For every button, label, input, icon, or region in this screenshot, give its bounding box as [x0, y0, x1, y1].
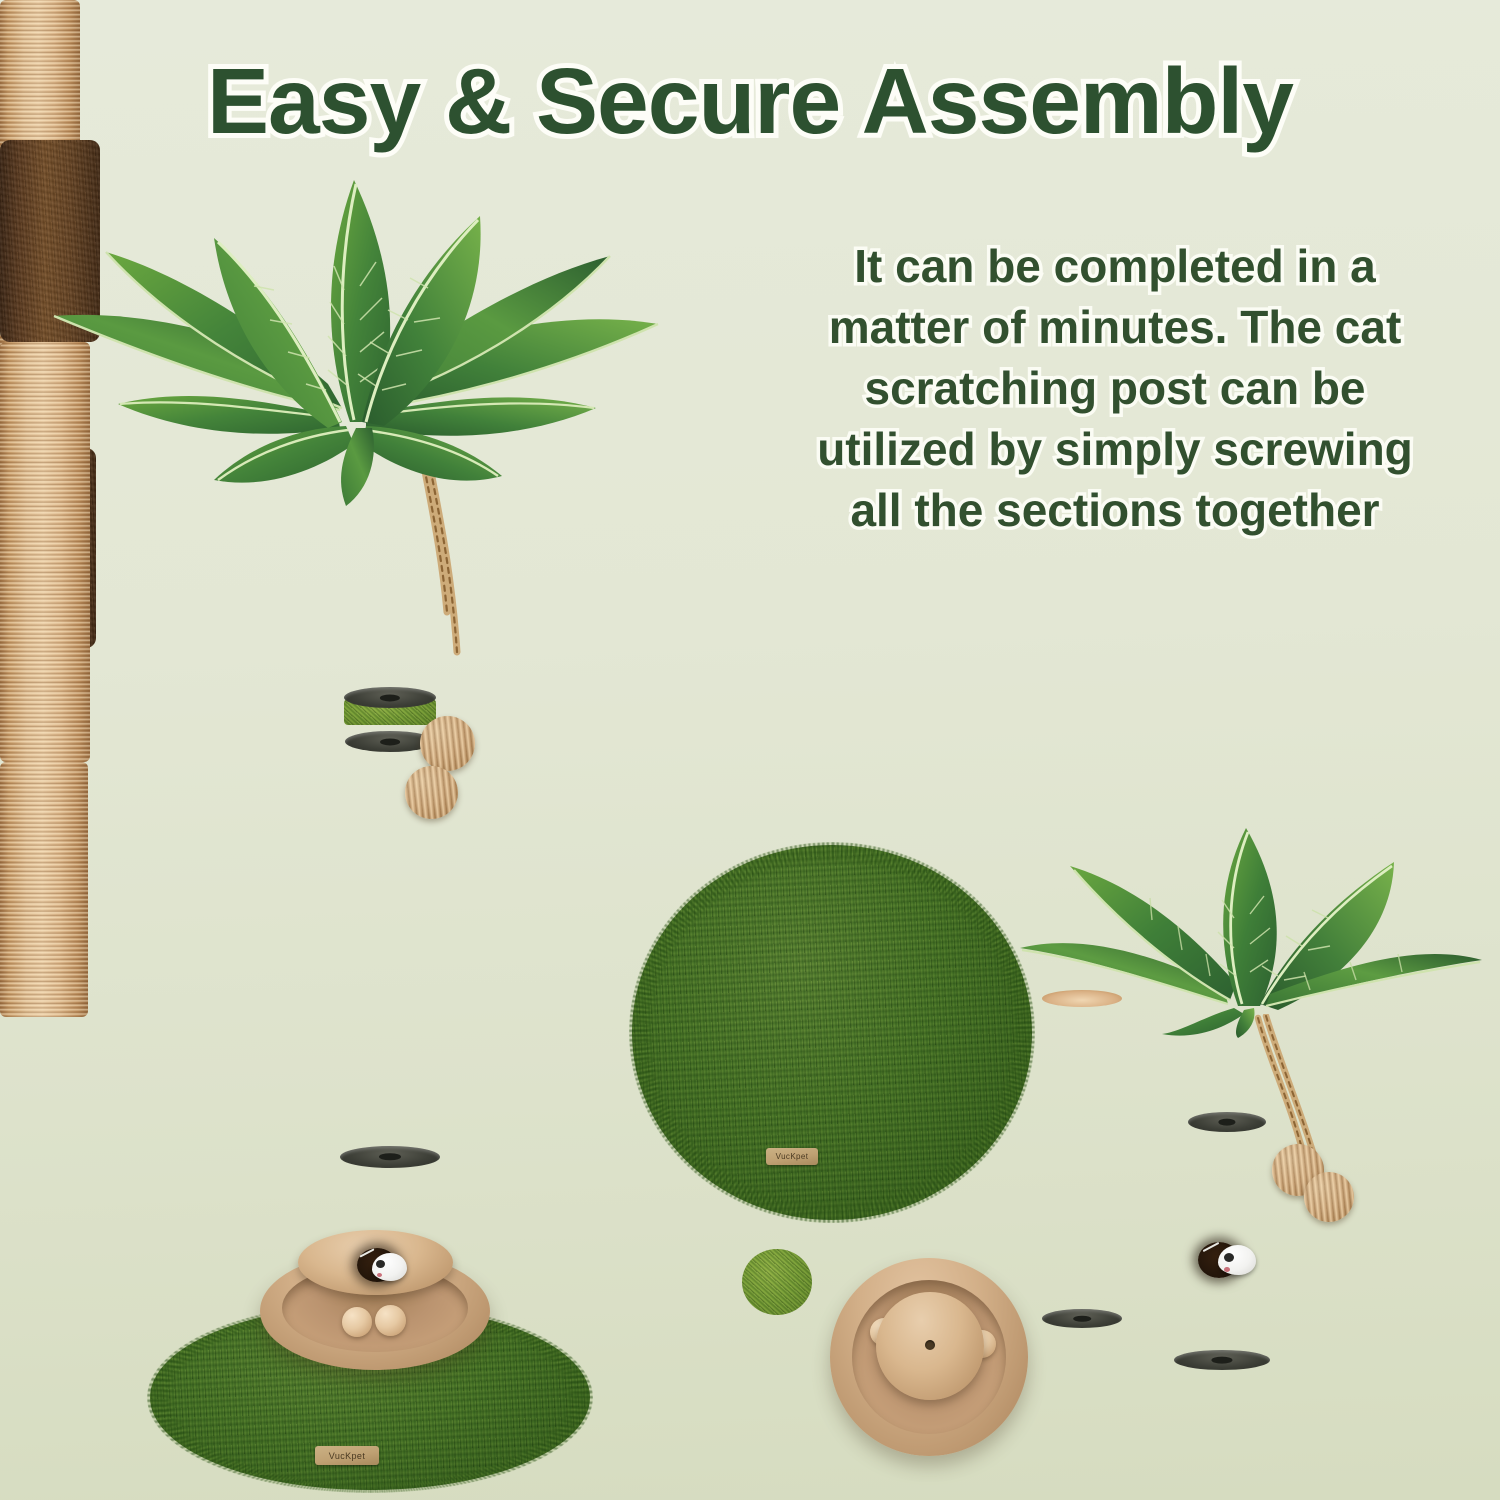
part-leaf-front-left	[1162, 1008, 1244, 1036]
description-line-5: all the sections together	[745, 480, 1485, 541]
sisal-toy-ball-lower-part	[1304, 1172, 1354, 1222]
brand-tag-part: VucKpet	[766, 1148, 818, 1165]
sisal-toy-ball-upper	[420, 716, 475, 771]
description-line-3: scratching post can be	[745, 358, 1485, 419]
mouse-nose	[377, 1273, 382, 1277]
description-line-1: It can be completed in a	[745, 236, 1485, 297]
product-infographic: Easy & Secure Assembly It can be complet…	[0, 0, 1500, 1500]
track-ball-left	[342, 1307, 372, 1337]
page-title: Easy & Secure Assembly	[0, 48, 1500, 155]
tunnel-top-connector	[340, 1146, 440, 1168]
leaf-front-left	[214, 426, 354, 483]
mouse-toy-part	[1218, 1245, 1256, 1275]
brand-tag: VucKpet	[315, 1446, 379, 1465]
base-screw-hole-part	[925, 1340, 935, 1350]
sisal-post-part-bottom-connector	[1042, 1309, 1122, 1328]
mouse-toy	[372, 1253, 407, 1281]
assembled-product: VucKpet	[0, 140, 700, 1500]
mouse-nose-part	[1224, 1267, 1230, 1272]
palm-leaves-part-svg	[1010, 808, 1500, 1038]
mouse-ear-part	[1224, 1253, 1234, 1262]
palm-leaves-svg	[10, 160, 690, 470]
tunnel-part-bottom-connector	[1174, 1350, 1270, 1370]
upper-sisal-post	[0, 762, 88, 1017]
grass-mat-part	[632, 845, 1032, 1220]
sisal-toy-ball-lower	[405, 766, 458, 819]
turf-edge-part	[629, 842, 1035, 1223]
leaf-top-part	[1010, 808, 1500, 1038]
description-line-4: utilized by simply screwing	[745, 419, 1485, 480]
palm-leaf-canopy	[10, 160, 690, 470]
track-ball-right	[375, 1305, 406, 1336]
mouse-ear	[376, 1260, 385, 1268]
description-block: It can be completed in a matter of minut…	[745, 236, 1485, 541]
moss-ball-part	[742, 1249, 812, 1315]
description-line-2: matter of minutes. The cat	[745, 297, 1485, 358]
